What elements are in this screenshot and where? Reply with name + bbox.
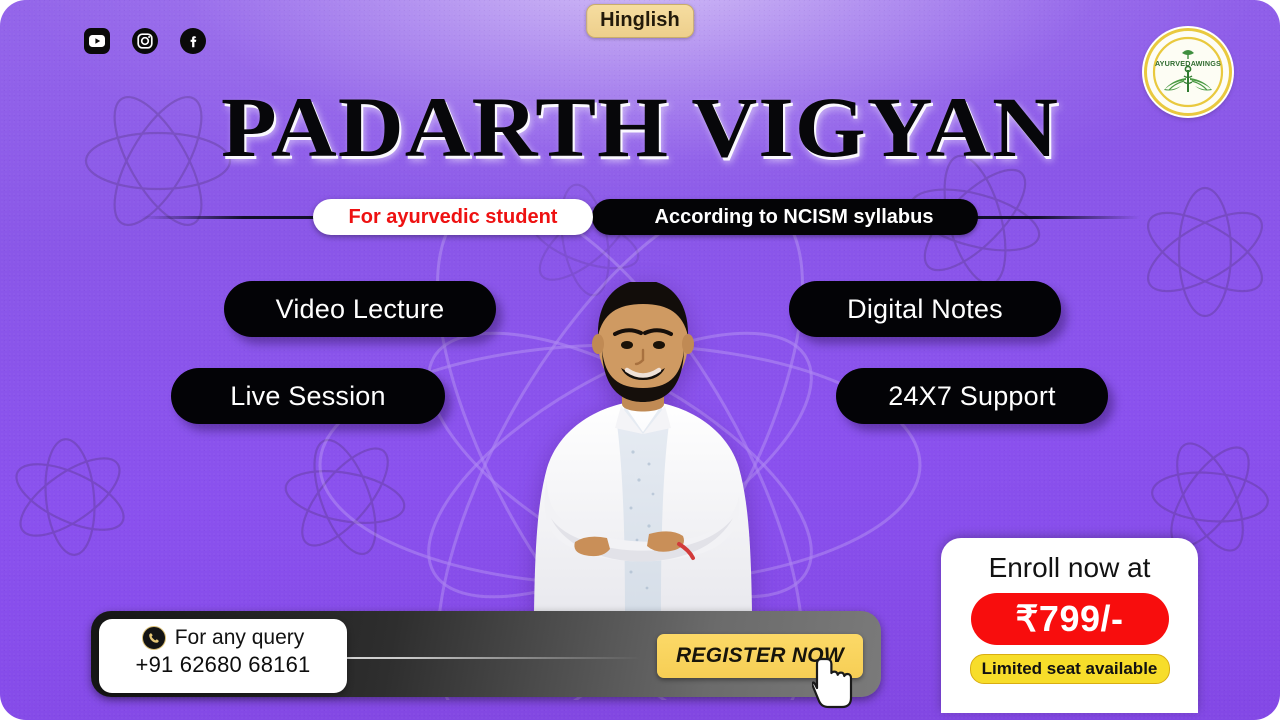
contact-heading-row: For any query	[99, 626, 347, 650]
language-badge[interactable]: Hinglish	[586, 4, 694, 38]
instructor-photo	[503, 282, 783, 612]
logo-text: AYURVEDAWINGS	[1147, 59, 1229, 68]
audience-pill: For ayurvedic student	[313, 199, 593, 235]
register-now-button[interactable]: REGISTER NOW	[657, 634, 863, 678]
youtube-icon[interactable]	[84, 28, 110, 54]
feature-digital-notes: Digital Notes	[789, 281, 1061, 337]
facebook-icon[interactable]	[180, 28, 206, 54]
feature-live-session: Live Session	[171, 368, 445, 424]
subtitle-row: According to NCISM syllabus For ayurvedi…	[0, 199, 1280, 235]
promo-banner: Hinglish	[0, 0, 1280, 720]
feature-24x7-support: 24X7 Support	[836, 368, 1108, 424]
syllabus-pill: According to NCISM syllabus	[592, 199, 978, 235]
instagram-icon[interactable]	[132, 28, 158, 54]
social-links	[84, 28, 206, 54]
contact-query-label: For any query	[175, 626, 305, 650]
contact-phone-number[interactable]: +91 62680 68161	[99, 652, 347, 678]
enroll-card: Enroll now at ₹799/- Limited seat availa…	[941, 538, 1198, 713]
phone-icon	[142, 626, 166, 650]
page-title: PADARTH VIGYAN	[0, 84, 1280, 170]
price-badge: ₹799/-	[971, 593, 1169, 645]
contact-card: For any query +91 62680 68161	[99, 619, 347, 693]
enroll-heading: Enroll now at	[941, 552, 1198, 584]
feature-video-lecture: Video Lecture	[224, 281, 496, 337]
atom-icon	[0, 430, 140, 565]
atom-icon	[275, 430, 415, 565]
limited-seats-badge: Limited seat available	[970, 654, 1170, 684]
